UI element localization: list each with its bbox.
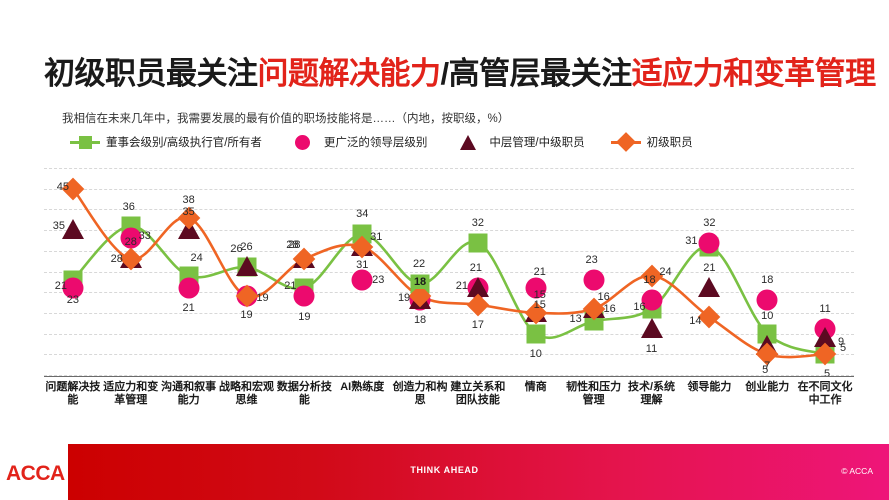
x-axis-label: 技术/系统理解 (623, 381, 681, 407)
data-point-square (526, 324, 545, 343)
x-axis-label: 适应力和变革管理 (102, 381, 160, 407)
value-label: 21 (55, 280, 67, 292)
value-label: 19 (240, 309, 252, 321)
diamond-icon (611, 135, 641, 149)
value-label: 11 (819, 303, 830, 315)
page-title: 初级职员最关注问题解决能力/高管层最关注适应力和变革管理 (44, 48, 854, 93)
x-axis-label: 领导能力 (680, 381, 738, 394)
x-axis-label: 战略和宏观思维 (218, 381, 276, 407)
value-label: 14 (689, 315, 701, 327)
line-chart: 2336242621342232101316311052133211919231… (44, 160, 854, 375)
value-label: 45 (57, 181, 69, 193)
footer-tagline: THINK AHEAD (0, 465, 889, 475)
value-label: 28 (111, 253, 123, 265)
value-label: 23 (372, 274, 384, 286)
data-point-circle (583, 269, 604, 290)
legend-item-junior-staff[interactable]: 初级职员 (611, 134, 693, 150)
chart-plot-area (44, 160, 854, 375)
value-label: 16 (633, 301, 645, 313)
value-label: 24 (659, 266, 671, 278)
value-label: 15 (534, 289, 546, 301)
title-part-2: /高管层最关注 (441, 56, 632, 91)
value-label: 21 (703, 262, 715, 274)
data-point-circle (294, 286, 315, 307)
value-label: 18 (761, 274, 773, 286)
x-axis-labels: 问题解决技能适应力和变革管理沟通和叙事能力战略和宏观思维数据分析技能AI熟练度创… (44, 381, 854, 431)
footer-copyright: © ACCA (841, 466, 873, 476)
value-label: 32 (472, 217, 484, 229)
value-label: 31 (356, 259, 368, 271)
value-label: 35 (183, 206, 195, 218)
value-label: 32 (703, 217, 715, 229)
x-axis-line (44, 376, 854, 377)
x-axis-label: 数据分析技能 (275, 381, 333, 407)
value-label: 19 (398, 292, 410, 304)
legend-item-middle-management[interactable]: 中层管理/中级职员 (453, 134, 584, 150)
data-point-triangle (641, 318, 663, 338)
value-label: 31 (685, 235, 697, 247)
value-label: 26 (240, 241, 252, 253)
legend-label: 更广泛的领导层级别 (324, 134, 428, 150)
value-label: 18 (643, 274, 655, 286)
value-label: 33 (139, 230, 151, 242)
data-point-triangle (62, 219, 84, 239)
data-point-circle (699, 232, 720, 253)
chart-legend: 董事会级别/高级执行官/所有者 更广泛的领导层级别 中层管理/中级职员 初级职员 (70, 134, 693, 150)
triangle-icon (453, 135, 483, 149)
legend-label: 中层管理/中级职员 (489, 134, 584, 150)
value-label: 22 (413, 258, 425, 270)
value-label: 18 (411, 275, 429, 289)
value-label: 17 (472, 319, 484, 331)
value-label: 21 (284, 280, 296, 292)
value-label: 35 (53, 220, 65, 232)
value-label: 38 (183, 194, 195, 206)
value-label: 5 (762, 364, 768, 376)
data-point-circle (352, 269, 373, 290)
data-point-circle (178, 278, 199, 299)
value-label: 16 (604, 303, 616, 315)
x-axis-label: 情商 (507, 381, 565, 394)
value-label: 19 (298, 311, 310, 323)
legend-label: 初级职员 (647, 134, 693, 150)
value-label: 21 (470, 262, 482, 274)
value-label: 21 (456, 280, 468, 292)
value-label: 23 (586, 254, 598, 266)
legend-item-board-level[interactable]: 董事会级别/高级执行官/所有者 (70, 134, 262, 150)
title-highlight-2: 适应力和变革管理 (632, 56, 876, 91)
value-label: 31 (370, 231, 382, 243)
value-label: 16 (598, 291, 610, 303)
x-axis-label: 创业能力 (738, 381, 796, 394)
data-point-circle (757, 290, 778, 311)
value-label: 5 (824, 368, 830, 380)
value-label: 24 (191, 252, 203, 264)
x-axis-label: 问题解决技能 (44, 381, 102, 407)
title-highlight-1: 问题解决能力 (258, 56, 441, 91)
data-point-square (468, 233, 487, 252)
x-axis-label: 韧性和压力管理 (565, 381, 623, 407)
value-label: 10 (761, 310, 773, 322)
value-label: 23 (67, 294, 79, 306)
x-axis-label: 沟通和叙事能力 (160, 381, 218, 407)
x-axis-label: 在不同文化中工作 (796, 381, 854, 407)
footer-bar: ACCA THINK AHEAD © ACCA (0, 444, 889, 500)
value-label: 18 (414, 314, 426, 326)
value-label: 21 (183, 302, 195, 314)
value-label: 10 (530, 348, 542, 360)
x-axis-label: AI熟练度 (333, 381, 391, 394)
circle-icon (288, 135, 318, 149)
square-icon (70, 135, 100, 149)
x-axis-label: 创造力和构思 (391, 381, 449, 407)
value-label: 28 (125, 236, 137, 248)
legend-label: 董事会级别/高级执行官/所有者 (106, 134, 262, 150)
data-point-triangle (236, 256, 258, 276)
chart-subtitle: 我相信在未来几年中，我需要发展的最有价值的职场技能将是……（内地，按职级，%） (62, 110, 509, 126)
value-label: 34 (356, 208, 368, 220)
value-label: 21 (534, 266, 546, 278)
value-label: 28 (288, 239, 300, 251)
title-part-1: 初级职员最关注 (44, 56, 258, 91)
value-label: 13 (570, 313, 582, 325)
x-axis-label: 建立关系和团队技能 (449, 381, 507, 407)
value-label: 5 (840, 342, 846, 354)
value-label: 19 (256, 292, 268, 304)
data-point-triangle (698, 277, 720, 297)
value-label: 36 (123, 201, 135, 213)
value-label: 11 (646, 343, 657, 355)
legend-item-broader-leadership[interactable]: 更广泛的领导层级别 (288, 134, 428, 150)
